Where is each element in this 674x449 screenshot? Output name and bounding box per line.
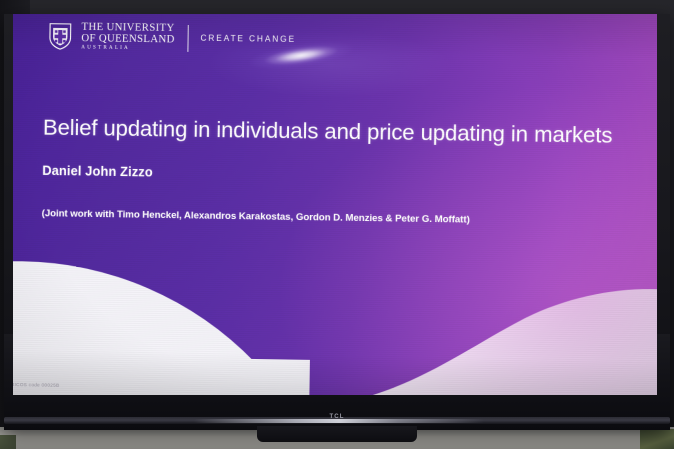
uq-shield-crest-icon xyxy=(48,22,72,50)
tagline-create-change: CREATE CHANGE xyxy=(200,34,296,45)
uq-wordmark: THE UNIVERSITY OF QUEENSLAND AUSTRALIA xyxy=(81,23,175,53)
decorative-swoosh-right xyxy=(363,272,657,395)
floor-plant-left xyxy=(0,435,16,449)
slide-title: Belief updating in individuals and price… xyxy=(43,115,644,149)
tv-brand-label: TCL xyxy=(4,414,670,420)
tv-stand xyxy=(257,426,417,442)
room-scene: TCL xyxy=(0,0,674,449)
tv-screen: THE UNIVERSITY OF QUEENSLAND AUSTRALIA C… xyxy=(13,14,657,395)
decorative-bottom-band xyxy=(13,355,310,395)
wordmark-line-2: OF QUEENSLAND xyxy=(81,34,175,46)
wordmark-line-3: AUSTRALIA xyxy=(81,46,174,53)
slide-credits: (Joint work with Timo Henckel, Alexandro… xyxy=(42,207,622,227)
uq-logo-lockup: THE UNIVERSITY OF QUEENSLAND AUSTRALIA C… xyxy=(48,22,296,54)
screen-surface: THE UNIVERSITY OF QUEENSLAND AUSTRALIA C… xyxy=(13,14,657,395)
slide-author: Daniel John Zizzo xyxy=(42,164,153,180)
floor-plant-right xyxy=(640,429,674,449)
lockup-divider xyxy=(187,25,188,52)
presentation-slide: THE UNIVERSITY OF QUEENSLAND AUSTRALIA C… xyxy=(13,14,657,395)
slide-footer-cricos: CRICOS code 00025B xyxy=(13,382,59,388)
